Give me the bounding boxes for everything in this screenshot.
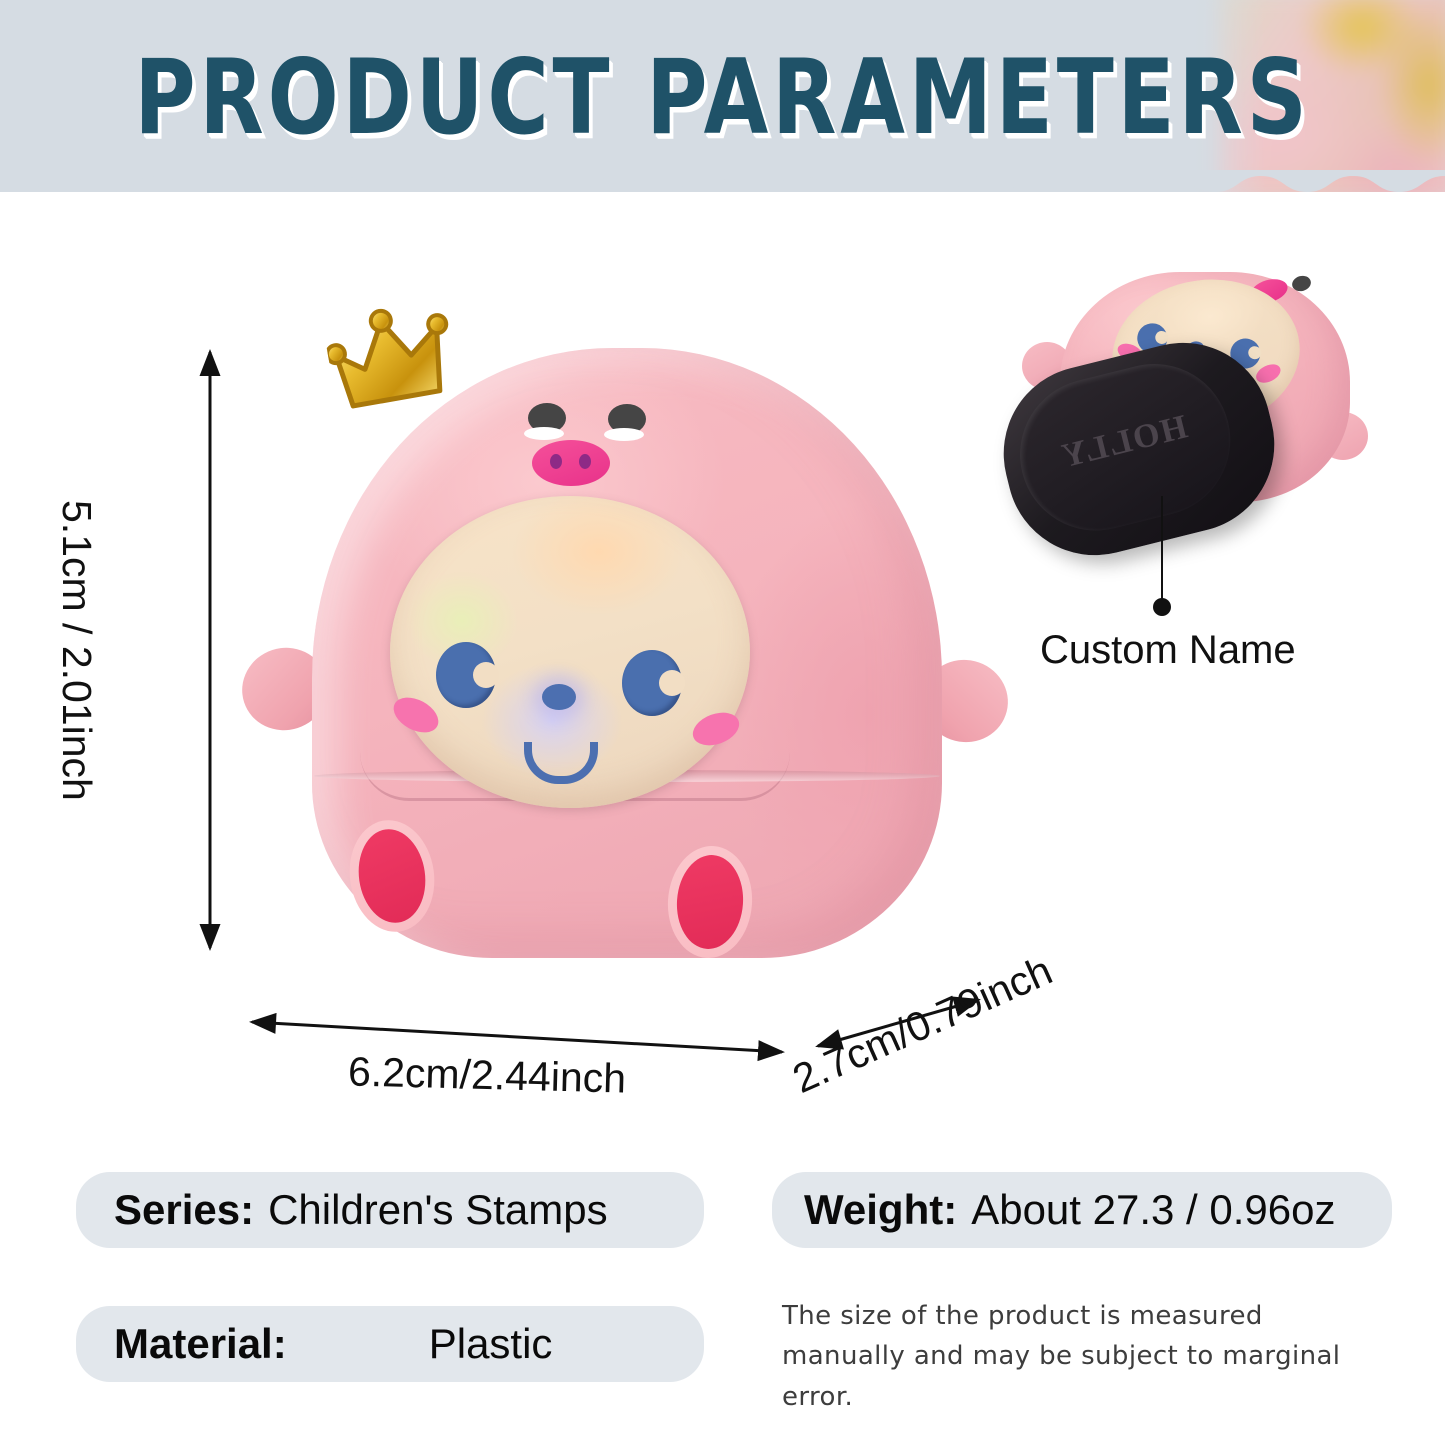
spec-weight-value: About 27.3 / 0.96oz [971, 1186, 1335, 1234]
header-band: PRODUCT PARAMETERS [0, 0, 1445, 192]
product-parameters-infographic: PRODUCT PARAMETERS [0, 0, 1445, 1445]
pig-nostril-right [579, 454, 591, 469]
scallop-divider [0, 170, 1445, 192]
spec-weight-key: Weight: [804, 1186, 957, 1234]
height-dimension-label: 5.1cm / 2.01inch [53, 500, 100, 801]
page-title: PRODUCT PARAMETERS [36, 36, 1409, 158]
spec-row-material: Material: Plastic [76, 1306, 704, 1382]
width-dimension-label: 6.2cm/2.44inch [347, 1048, 626, 1102]
custom-name-label: Custom Name [1040, 628, 1296, 673]
face-nose [542, 684, 576, 710]
secondary-product-image: HOLLY [1000, 262, 1390, 552]
pig-nostril-left [550, 454, 562, 469]
spec-material-key: Material: [114, 1320, 287, 1368]
secondary-cheek-right [1253, 361, 1283, 387]
spec-material-value: Plastic [429, 1320, 553, 1368]
main-product-image [240, 300, 1010, 1000]
callout-leader-dot [1153, 598, 1171, 616]
pig-hood-eye-left [528, 403, 566, 433]
face-eye-left [436, 642, 496, 708]
spec-row-series: Series: Children's Stamps [76, 1172, 704, 1248]
stamp-engraved-name: HOLLY [1017, 398, 1232, 486]
pig-hood-eye-right [608, 404, 646, 434]
pig-snout [532, 440, 610, 486]
face-eye-right [622, 650, 682, 716]
crown-icon [321, 296, 468, 427]
spec-series-value: Children's Stamps [268, 1186, 608, 1234]
callout-leader-line [1161, 496, 1163, 604]
spec-series-key: Series: [114, 1186, 254, 1234]
spec-row-weight: Weight: About 27.3 / 0.96oz [772, 1172, 1392, 1248]
measurement-disclaimer: The size of the product is measured manu… [782, 1296, 1392, 1417]
